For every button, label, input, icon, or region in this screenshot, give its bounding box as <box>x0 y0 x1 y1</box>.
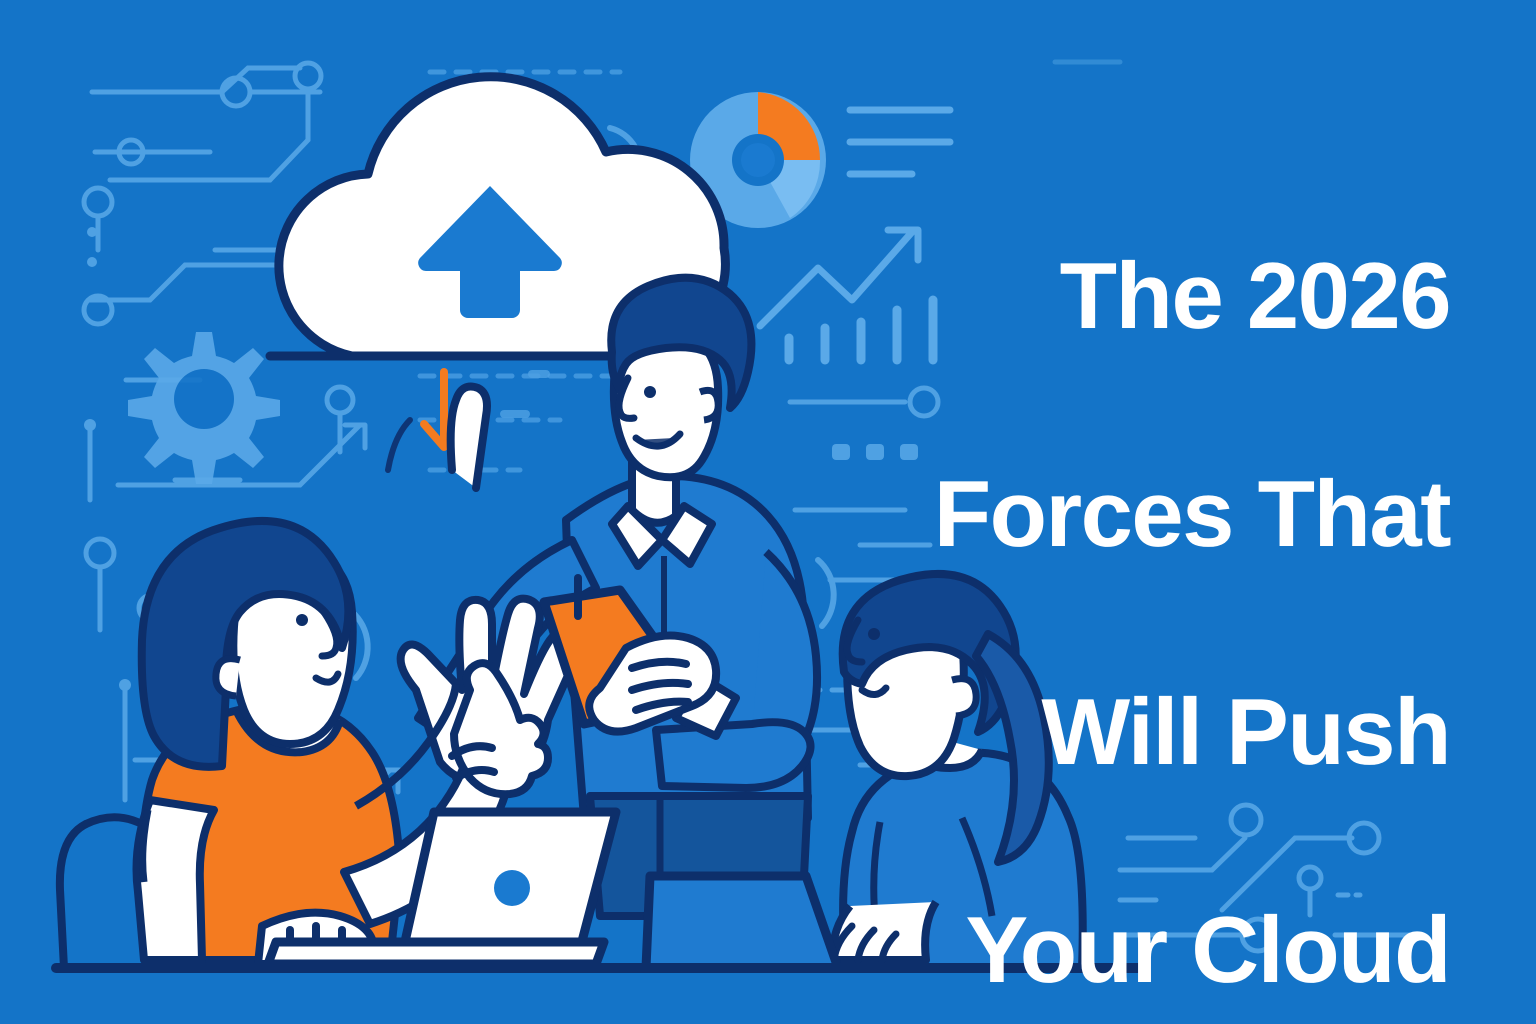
headline-line-3: Will Push <box>890 677 1450 786</box>
poster-canvas: The 2026 Forces That Will Push Your Clou… <box>0 0 1536 1024</box>
page-title: The 2026 Forces That Will Push Your Clou… <box>890 132 1450 1024</box>
headline-line-2: Forces That <box>890 459 1450 568</box>
gear-icon <box>128 332 280 484</box>
laptop-logo-icon <box>494 870 530 906</box>
headline-line-1: The 2026 <box>890 241 1450 350</box>
headline-line-4: Your Cloud <box>890 895 1450 1004</box>
